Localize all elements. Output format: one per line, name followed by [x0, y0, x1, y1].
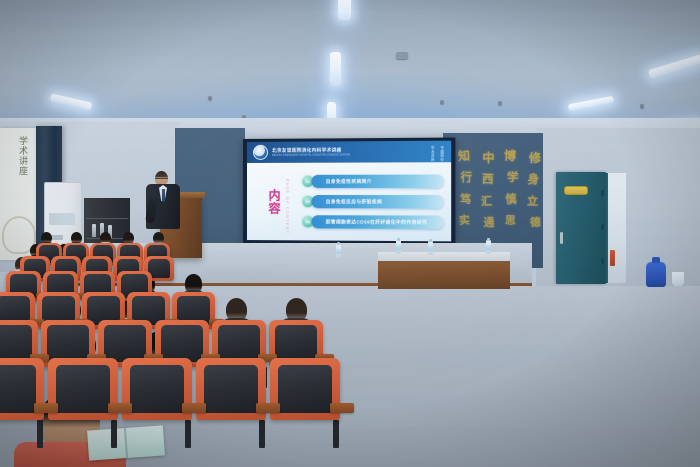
seat-armrest: [108, 403, 132, 414]
calligraphy-character: 通: [484, 218, 495, 229]
calligraphy-character: 知: [457, 150, 469, 162]
slide-organization: 北京友谊医院消化内科学术讲座 BEIJING FRIENDSHIP HOSPIT…: [272, 147, 350, 157]
seat-back: [204, 365, 257, 413]
seat-leg: [333, 420, 339, 448]
ceiling-light-tube: [330, 52, 341, 86]
calligraphy-character: 博: [503, 150, 515, 162]
open-doorway: [606, 173, 626, 283]
calligraphy-character: 汇: [480, 196, 492, 208]
agenda-bar: 自身免疫性疾病简介: [311, 175, 443, 188]
slide-meta-item: 学术讲座: [429, 146, 434, 162]
seat-back: [275, 325, 316, 362]
calligraphy-character: 立: [526, 196, 538, 208]
glasses-icon: [155, 178, 168, 182]
exit-door[interactable]: [556, 172, 606, 284]
seat-armrest: [330, 403, 354, 414]
seat-back: [47, 325, 88, 362]
seat-back: [56, 365, 109, 413]
calligraphy-character: 笃: [459, 194, 471, 206]
calligraphy-character: 思: [504, 216, 515, 227]
sprinkler-head: [640, 104, 644, 108]
calligraphy-character: 西: [481, 174, 493, 186]
water-cooler-jug: [646, 262, 666, 287]
seat-back: [161, 325, 202, 362]
water-bottle: [428, 241, 433, 255]
slide-title-en: PAGE OF CONTENT: [285, 179, 289, 234]
agenda-bar: 自身免疫反应与肝脏疾病: [311, 195, 443, 208]
calligraphy-character: 学: [506, 172, 518, 184]
audience-member: [286, 298, 307, 322]
presentation-slide: 北京友谊医院消化内科学术讲座 BEIJING FRIENDSHIP HOSPIT…: [247, 141, 451, 242]
calligraphy-character: 中: [483, 152, 495, 164]
seat-back: [0, 325, 32, 362]
presenter: [146, 171, 180, 229]
door-handle[interactable]: [560, 232, 563, 244]
seat-leg: [185, 420, 191, 448]
ceiling-light-tube: [338, 0, 351, 20]
seat-armrest: [182, 403, 206, 414]
water-bottle: [486, 240, 491, 254]
calligraphy-character: 实: [458, 216, 469, 227]
lecture-hall-photo: 知中博修行西学身笃汇慎立实通思德 学术讲座 北京友谊医院消化内科学术讲座 BEI…: [0, 0, 700, 467]
open-notebook: [87, 425, 165, 460]
seat-leg: [259, 420, 265, 448]
calligraphy-character: 身: [528, 174, 540, 186]
slide-header-bar: 北京友谊医院消化内科学术讲座 BEIJING FRIENDSHIP HOSPIT…: [247, 141, 451, 163]
cabinet-panel: [49, 213, 75, 225]
exit-sign: [564, 186, 588, 195]
slide-header-meta: 学术讲座 专题报告: [429, 146, 444, 162]
seat-armrest: [34, 403, 58, 414]
calligraphy-character: 德: [529, 218, 540, 229]
calligraphy-character: 修: [528, 152, 540, 164]
projection-screen: 北京友谊医院消化内科学术讲座 BEIJING FRIENDSHIP HOSPIT…: [243, 138, 455, 245]
slide-title-cn: 内容: [267, 189, 280, 215]
agenda-label: 自身免疫性疾病简介: [326, 178, 372, 184]
seat-back: [104, 325, 145, 362]
front-table-skirt: [378, 261, 510, 289]
slide-body: 内容 PAGE OF CONTENT 01 自身免疫性疾病简介 02 自身免疫反…: [247, 162, 451, 241]
seat-leg: [111, 420, 117, 448]
water-bottle: [336, 244, 341, 258]
calligraphy-character: 慎: [506, 194, 517, 205]
seat-back: [218, 325, 259, 362]
sprinkler-head: [440, 100, 444, 104]
calligraphy-character: 行: [461, 172, 473, 184]
agenda-item: 01 自身免疫性疾病简介: [302, 175, 445, 188]
seat-leg: [37, 420, 43, 448]
slide-agenda-list: 01 自身免疫性疾病简介 02 自身免疫反应与肝脏疾病 03: [302, 175, 445, 237]
seat-armrest: [256, 403, 280, 414]
agenda-item: 03 胆管细胞表达CD56在肝纤维化中的作用研究: [302, 215, 445, 229]
standing-banner: 学术讲座: [0, 128, 36, 260]
sprinkler-head: [498, 101, 502, 105]
audience-member: [226, 298, 247, 322]
audience-member: [185, 274, 202, 293]
agenda-label: 自身免疫反应与肝脏疾病: [326, 199, 382, 205]
hospital-logo-icon: [253, 145, 268, 160]
seat-back: [278, 365, 331, 413]
agenda-label: 胆管细胞表达CD56在肝纤维化中的作用研究: [326, 219, 428, 226]
agenda-item: 02 自身免疫反应与肝脏疾病: [302, 195, 445, 208]
cabinet-handle: [51, 235, 63, 240]
glass-vessel: [672, 272, 684, 286]
water-bottle: [396, 240, 401, 254]
corridor-object: [610, 250, 615, 266]
seat-back: [130, 365, 183, 413]
presenter-tie: [162, 189, 165, 202]
sprinkler-head: [208, 96, 212, 100]
ceiling-speaker: [396, 52, 408, 59]
seat-back: [0, 365, 36, 413]
banner-text: 学术讲座: [6, 136, 28, 176]
slide-org-en: BEIJING FRIENDSHIP HOSPITAL DIGESTIVE DI…: [272, 153, 350, 157]
slide-meta-item: 专题报告: [439, 146, 444, 162]
agenda-bar: 胆管细胞表达CD56在肝纤维化中的作用研究: [311, 215, 443, 229]
